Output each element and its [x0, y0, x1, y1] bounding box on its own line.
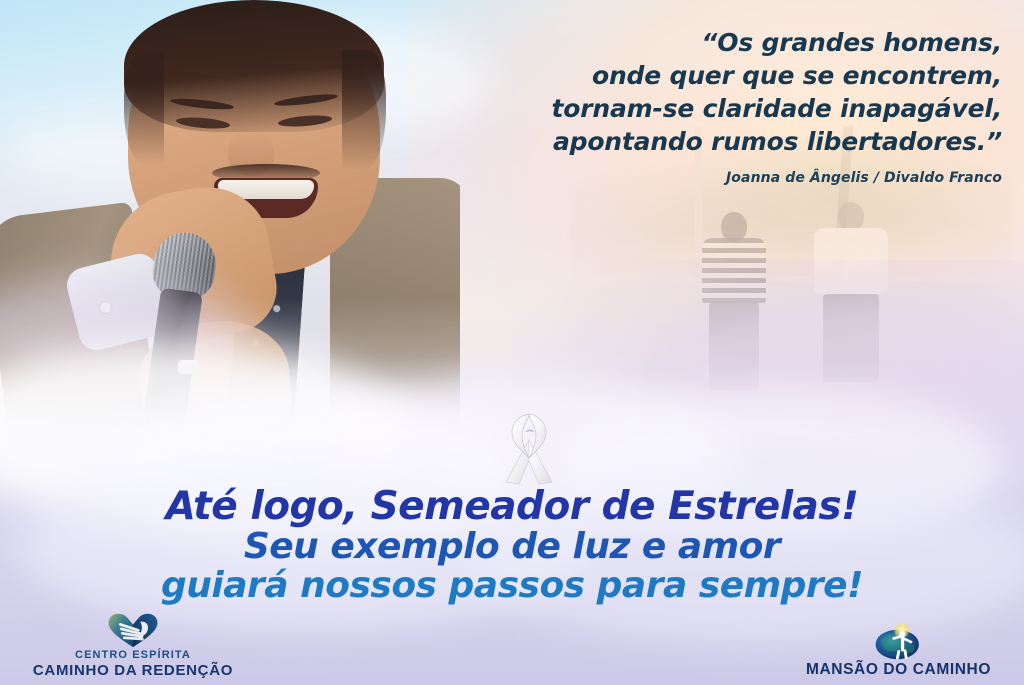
figure-torso [814, 228, 888, 294]
heart-hands-icon [8, 609, 258, 649]
headline-line-1: Até logo, Semeador de Estrelas! [0, 486, 1024, 528]
quote-line-2: onde quer que se encontrem, [442, 59, 1002, 92]
white-ribbon-icon [494, 410, 564, 486]
quote-line-4: apontando rumos libertadores.” [442, 125, 1002, 158]
quote-attribution: Joanna de Ângelis / Divaldo Franco [442, 170, 1002, 186]
logo-right-line-1: MANSÃO DO CAMINHO [781, 661, 1016, 679]
hair-side-left [124, 54, 164, 164]
hair-side-right [342, 50, 386, 170]
cuff-button [100, 302, 111, 313]
logo-left-line-2: CAMINHO DA REDENÇÃO [8, 662, 258, 679]
headline-block: Até logo, Semeador de Estrelas! Seu exem… [0, 486, 1024, 606]
memorial-poster: “Os grandes homens, onde quer que se enc… [0, 0, 1024, 685]
globe-figure-icon [781, 621, 1016, 661]
headline-line-2: Seu exemplo de luz e amor [0, 528, 1024, 567]
logo-centro-espirita-caminho-da-redencao: CENTRO ESPÍRITA CAMINHO DA REDENÇÃO [8, 609, 258, 679]
logo-left-line-1: CENTRO ESPÍRITA [8, 649, 258, 662]
quote-line-1: “Os grandes homens, [442, 26, 1002, 59]
quote-block: “Os grandes homens, onde quer que se enc… [442, 26, 1002, 186]
quote-line-3: tornam-se claridade inapagável, [442, 92, 1002, 125]
headline-line-3: guiará nossos passos para sempre! [0, 567, 1024, 606]
logo-mansao-do-caminho: MANSÃO DO CAMINHO [781, 621, 1016, 679]
figure-torso [702, 238, 766, 304]
